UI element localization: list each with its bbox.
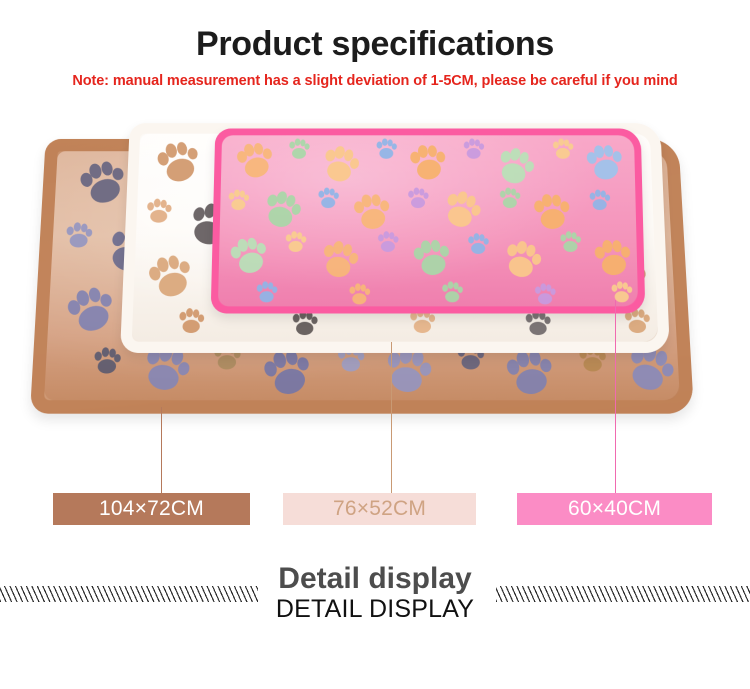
pink-mat-trim [211, 128, 646, 313]
small-pink-mat [211, 128, 646, 313]
detail-display-title: Detail display [0, 563, 750, 595]
size-label-small: 60×40CM [517, 493, 712, 525]
measurement-note: Note: manual measurement has a slight de… [0, 74, 750, 89]
product-photo [0, 112, 750, 412]
connector-line-medium [391, 342, 392, 493]
size-label-large: 104×72CM [53, 493, 250, 525]
size-label-medium: 76×52CM [283, 493, 476, 525]
connector-line-small [615, 300, 616, 493]
detail-display-subtitle: DETAIL DISPLAY [0, 596, 750, 622]
connector-line-large [161, 407, 162, 493]
page-title: Product specifications [0, 27, 750, 61]
